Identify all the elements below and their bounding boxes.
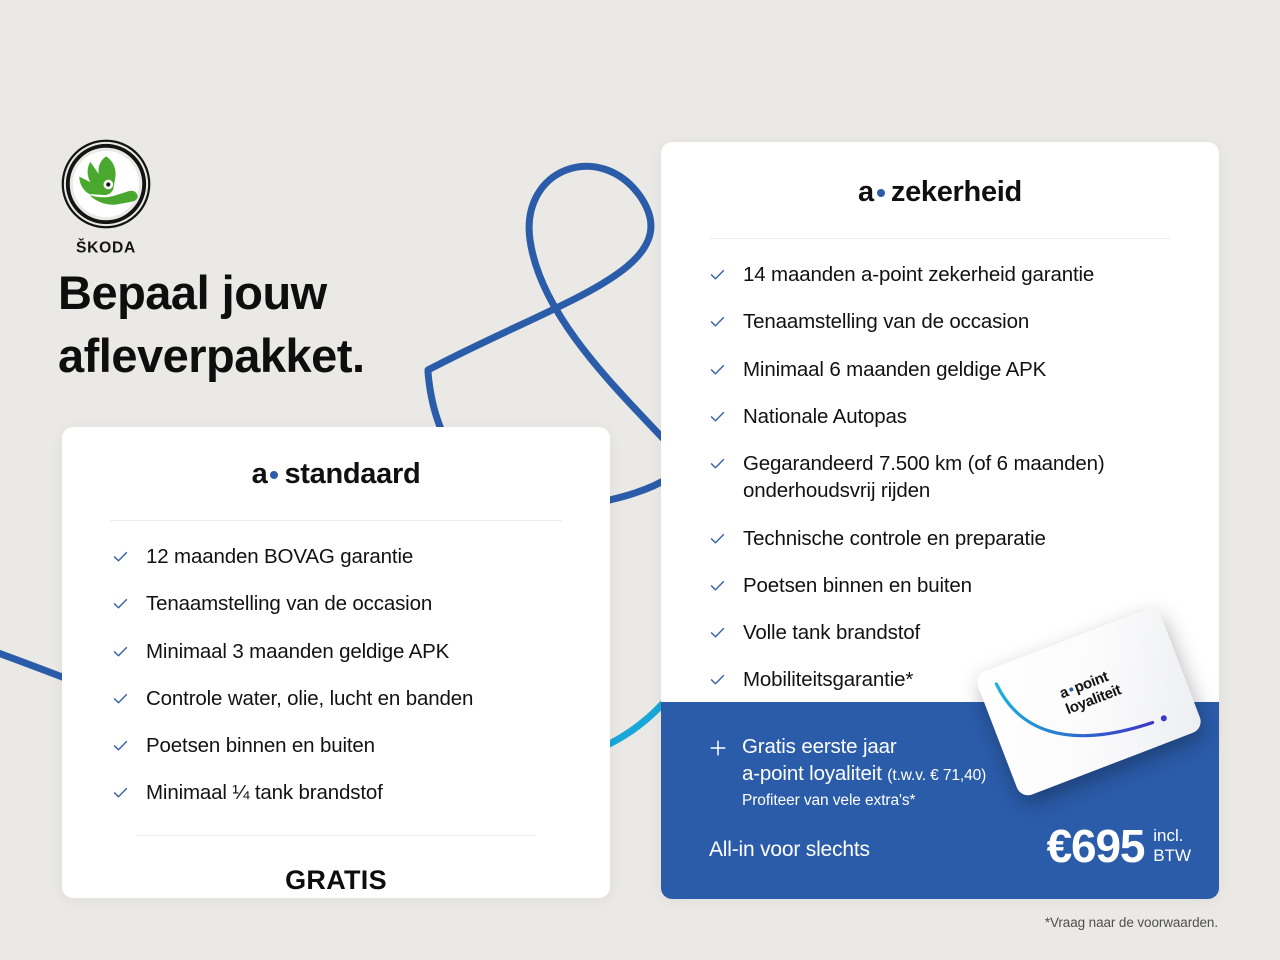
- price-label: All-in voor slechts: [709, 838, 870, 869]
- list-item: 12 maanden BOVAG garantie: [112, 543, 580, 570]
- divider: [110, 520, 562, 521]
- check-icon: [112, 737, 129, 754]
- check-icon: [709, 313, 726, 330]
- card-title-text: zekerheid: [891, 176, 1022, 208]
- feature-text: Poetsen binnen en buiten: [146, 732, 375, 759]
- feature-text: Nationale Autopas: [743, 403, 907, 430]
- promo-canvas: ŠKODA Bepaal jouw afleverpakket. astanda…: [0, 0, 1280, 960]
- list-item: Minimaal ¼ tank brandstof: [112, 779, 580, 806]
- price-standaard: GRATIS: [62, 865, 610, 896]
- feature-text: Poetsen binnen en buiten: [743, 572, 972, 599]
- feature-text: 12 maanden BOVAG garantie: [146, 543, 413, 570]
- brand-block: ŠKODA: [60, 138, 152, 256]
- check-icon: [709, 671, 726, 688]
- list-item: Gegarandeerd 7.500 km (of 6 maanden) ond…: [709, 450, 1177, 505]
- feature-text: Tenaamstelling van de occasion: [146, 590, 432, 617]
- check-icon: [709, 408, 726, 425]
- check-icon: [709, 455, 726, 472]
- a-point-mark: a: [858, 176, 874, 208]
- check-icon: [709, 577, 726, 594]
- feature-text: 14 maanden a-point zekerheid garantie: [743, 261, 1094, 288]
- feature-text: Minimaal ¼ tank brandstof: [146, 779, 383, 806]
- check-icon: [112, 643, 129, 660]
- check-icon: [112, 595, 129, 612]
- feature-text: Controle water, olie, lucht en banden: [146, 685, 473, 712]
- package-card-zekerheid[interactable]: azekerheid 14 maanden a-point zekerheid …: [661, 142, 1219, 899]
- feature-text: Mobiliteitsgarantie*: [743, 666, 913, 693]
- card-title-zekerheid: azekerheid: [661, 142, 1219, 209]
- list-item: 14 maanden a-point zekerheid garantie: [709, 261, 1177, 288]
- price-amount: €695: [1047, 823, 1145, 869]
- check-icon: [112, 784, 129, 801]
- check-icon: [112, 548, 129, 565]
- skoda-wordmark: ŠKODA: [60, 236, 152, 256]
- feature-text: Gegarandeerd 7.500 km (of 6 maanden) ond…: [743, 450, 1177, 505]
- list-item: Poetsen binnen en buiten: [112, 732, 580, 759]
- bonus-value-note: (t.w.v. € 71,40): [887, 767, 986, 784]
- check-icon: [709, 530, 726, 547]
- feature-list-standaard: 12 maanden BOVAG garantie Tenaamstelling…: [62, 543, 610, 807]
- page-title: Bepaal jouw afleverpakket.: [58, 262, 365, 387]
- package-card-standaard[interactable]: astandaard 12 maanden BOVAG garantie Ten…: [62, 427, 610, 898]
- plus-icon: [709, 739, 727, 757]
- check-icon: [709, 266, 726, 283]
- feature-text: Minimaal 6 maanden geldige APK: [743, 356, 1046, 383]
- divider: [710, 238, 1170, 239]
- a-point-dot-icon: [270, 471, 278, 479]
- price-row: All-in voor slechts €695 incl. BTW: [709, 823, 1191, 869]
- list-item: Nationale Autopas: [709, 403, 1177, 430]
- list-item: Minimaal 3 maanden geldige APK: [112, 638, 580, 665]
- card-title-text: standaard: [284, 458, 420, 490]
- bonus-line-2: a-point loyaliteit (t.w.v. € 71,40): [742, 760, 986, 787]
- a-point-mark: a: [252, 458, 268, 490]
- list-item: Tenaamstelling van de occasion: [709, 308, 1177, 335]
- list-item: Minimaal 6 maanden geldige APK: [709, 356, 1177, 383]
- loyalty-dot-icon: [1068, 686, 1074, 692]
- feature-text: Minimaal 3 maanden geldige APK: [146, 638, 449, 665]
- list-item: Controle water, olie, lucht en banden: [112, 685, 580, 712]
- price-vat-note: incl. BTW: [1153, 826, 1191, 865]
- bonus-loyalty-text: a-point loyaliteit: [742, 762, 882, 785]
- check-icon: [709, 361, 726, 378]
- check-icon: [112, 690, 129, 707]
- bonus-line-3: Profiteer van vele extra's*: [742, 792, 986, 810]
- check-icon: [709, 624, 726, 641]
- a-point-dot-icon: [877, 189, 885, 197]
- skoda-logo-icon: [60, 138, 152, 230]
- list-item: Poetsen binnen en buiten: [709, 572, 1177, 599]
- list-item: Technische controle en preparatie: [709, 525, 1177, 552]
- list-item: Tenaamstelling van de occasion: [112, 590, 580, 617]
- feature-text: Technische controle en preparatie: [743, 525, 1046, 552]
- feature-text: Tenaamstelling van de occasion: [743, 308, 1029, 335]
- price-value-group: €695 incl. BTW: [1047, 823, 1191, 869]
- feature-text: Volle tank brandstof: [743, 619, 920, 646]
- footnote: *Vraag naar de voorwaarden.: [1045, 915, 1218, 930]
- svg-text:ŠKODA: ŠKODA: [76, 238, 136, 257]
- card-title-standaard: astandaard: [62, 427, 610, 491]
- divider: [136, 835, 536, 836]
- bonus-line-1: Gratis eerste jaar: [742, 733, 986, 760]
